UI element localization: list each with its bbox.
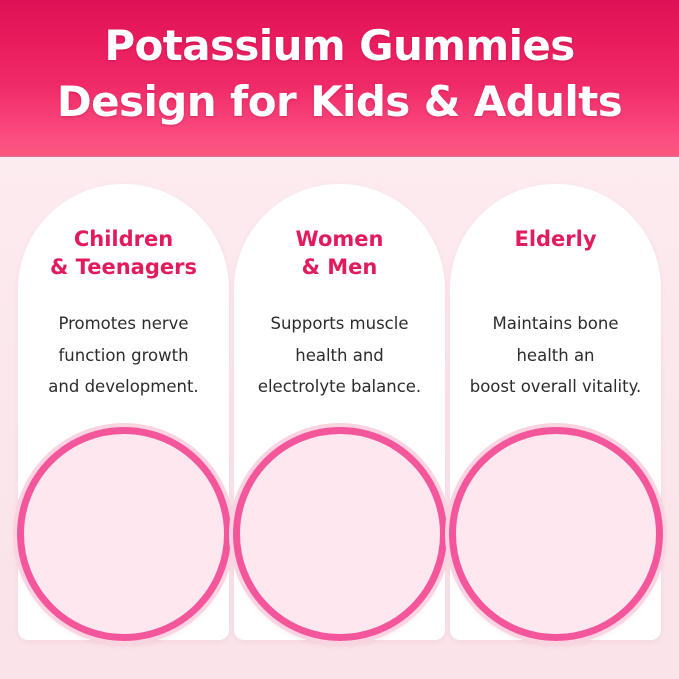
benefit-card-description: Maintains bone health an boost overall v… [452,308,659,403]
benefit-card-women-men: Women & Men Supports muscle health and e… [234,184,445,640]
benefit-card-description-line-2: health and [236,340,443,372]
benefit-card-heading-line-2: & Teenagers [18,254,229,282]
teenagers-high-five-park-photo [17,427,231,641]
photo-pink-ring [449,427,663,641]
elderly-couple-cycling-photo [449,427,663,641]
benefit-card-description-line-3: electrolyte balance. [236,371,443,403]
benefit-card-description-line-3: boost overall vitality. [452,371,659,403]
benefit-card-description-line-1: Promotes nerve [20,308,227,340]
benefit-card-description-line-2: function growth [20,340,227,372]
benefit-card-description-line-3: and development. [20,371,227,403]
benefit-card-description-line-1: Supports muscle [236,308,443,340]
benefit-card-description-line-2: health an [452,340,659,372]
page-title-line-2: Design for Kids & Adults [0,74,679,130]
benefit-card-children: Children & Teenagers Promotes nerve func… [18,184,229,640]
page-title: Potassium Gummies Design for Kids & Adul… [0,18,679,130]
benefit-cards-row: Children & Teenagers Promotes nerve func… [18,184,661,640]
benefit-card-elderly: Elderly Maintains bone health an boost o… [450,184,661,640]
page-title-line-1: Potassium Gummies [0,18,679,74]
photo-pink-ring [17,427,231,641]
benefit-card-heading-line-1: Elderly [450,226,661,254]
benefit-card-heading: Women & Men [234,226,445,282]
header-banner: Potassium Gummies Design for Kids & Adul… [0,0,679,156]
photo-pink-ring [233,427,447,641]
product-infographic-poster: Potassium Gummies Design for Kids & Adul… [0,0,679,679]
benefit-card-heading-line-2: & Men [234,254,445,282]
benefit-card-description: Promotes nerve function growth and devel… [20,308,227,403]
benefit-card-description: Supports muscle health and electrolyte b… [236,308,443,403]
benefit-card-heading: Elderly [450,226,661,254]
benefit-card-heading: Children & Teenagers [18,226,229,282]
woman-man-gym-workout-photo [233,427,447,641]
benefit-card-description-line-1: Maintains bone [452,308,659,340]
benefit-card-heading-line-1: Women [234,226,445,254]
benefit-card-heading-line-1: Children [18,226,229,254]
